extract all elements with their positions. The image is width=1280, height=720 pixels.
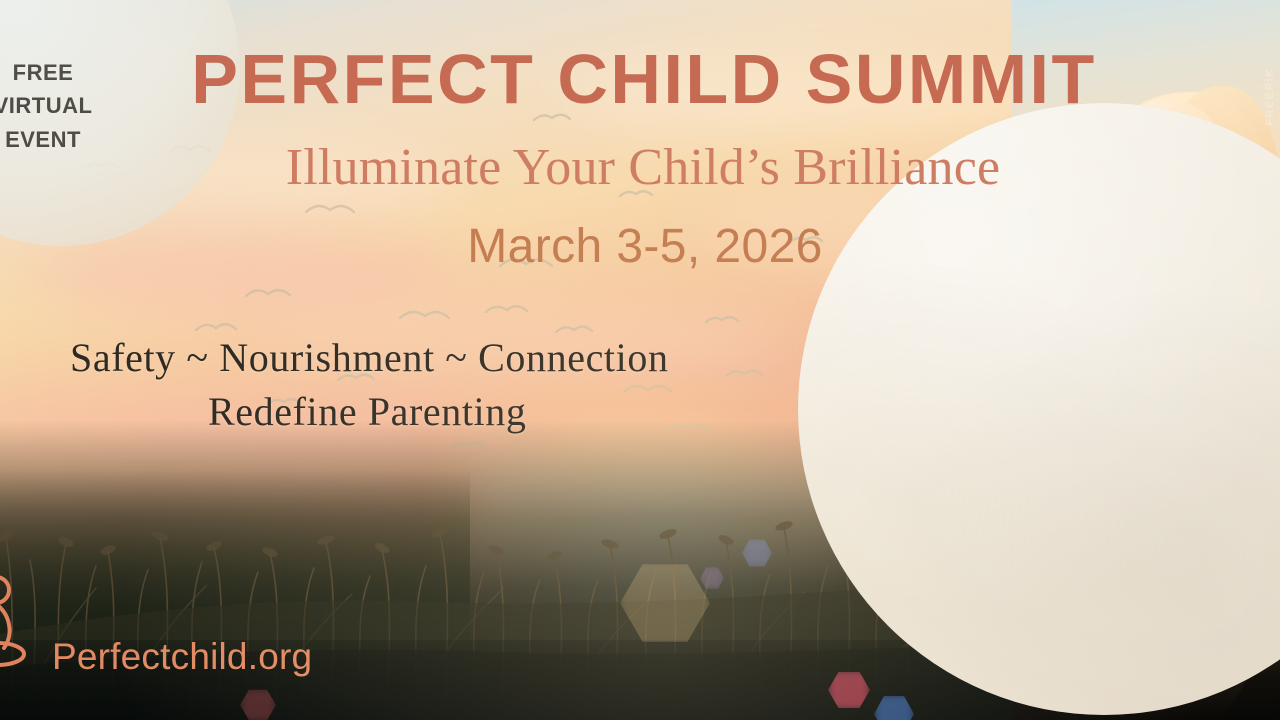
summit-subtitle: Illuminate Your Child’s Brilliance — [0, 141, 1280, 196]
perfect-child-logo-icon — [0, 572, 48, 676]
website-url[interactable]: Perfectchild.org — [52, 636, 312, 678]
summit-poster: FREEPIK FREEPIK FREEPIK FREEPIK FREEPIK … — [0, 0, 1280, 720]
summit-dates: March 3-5, 2026 — [0, 222, 1280, 272]
summit-title: PERFECT CHILD SUMMIT — [0, 44, 1280, 114]
summit-pillars-line-1: Safety ~ Nourishment ~ Connection — [70, 338, 669, 378]
summit-pillars-line-2: Redefine Parenting — [208, 392, 526, 432]
